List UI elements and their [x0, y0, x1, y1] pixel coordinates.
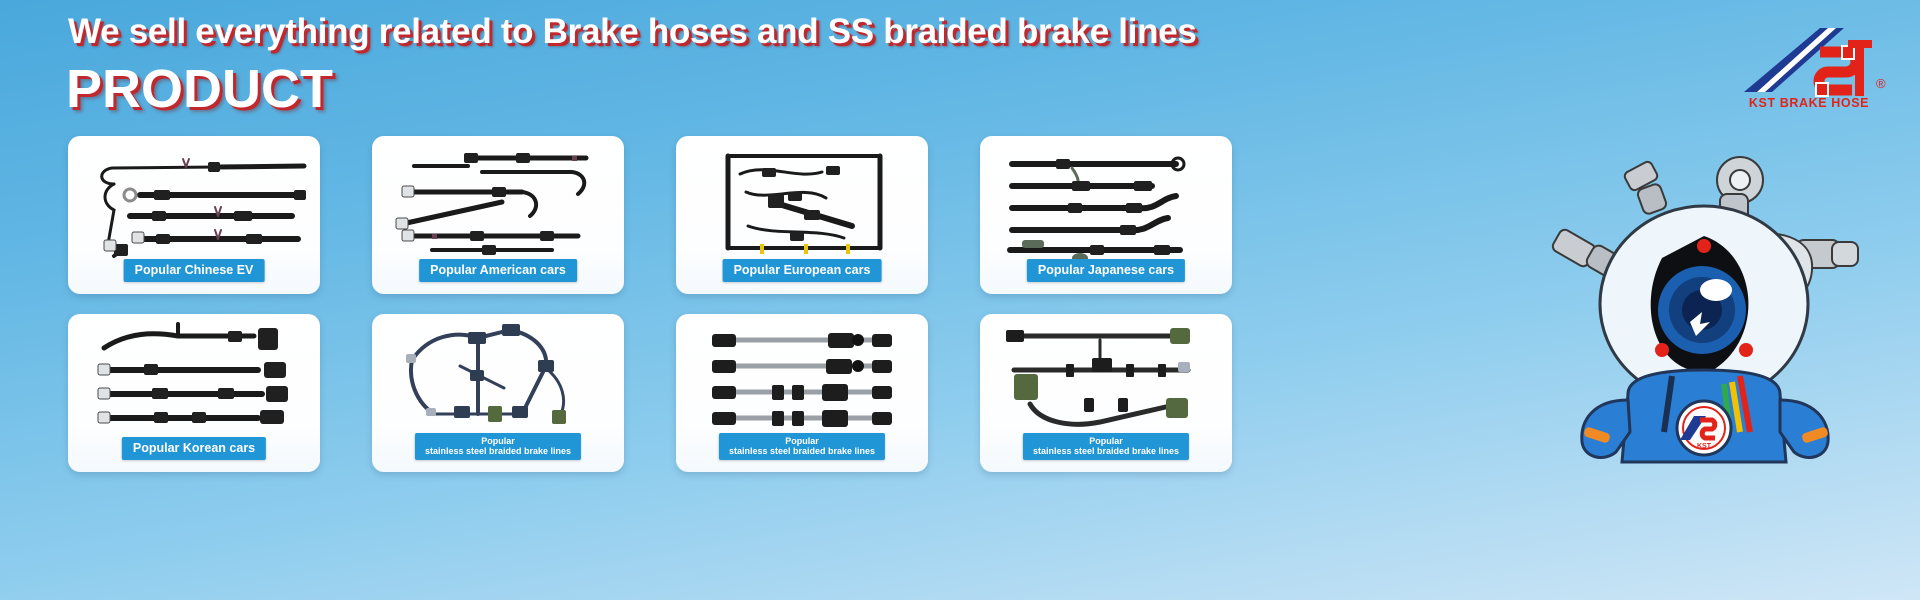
mascot-badge-text: KST — [1697, 443, 1712, 450]
card-badge: Popular European cars — [723, 259, 882, 282]
product-card-japanese-cars[interactable]: Popular Japanese cars — [980, 136, 1232, 294]
product-card-chinese-ev[interactable]: Popular Chinese EV — [68, 136, 320, 294]
product-card-american-cars[interactable]: Popular American cars — [372, 136, 624, 294]
card-badge: Popular stainless steel braided brake li… — [719, 433, 885, 460]
card-badge-line1: Popular American cars — [430, 263, 566, 277]
card-badge-line2: stainless steel braided brake lines — [729, 446, 875, 456]
brake-hose-artwork — [68, 318, 320, 444]
card-badge-line1: Popular — [729, 436, 875, 446]
card-badge: Popular American cars — [419, 259, 577, 282]
banner-stage: We sell everything related to Brake hose… — [0, 0, 1920, 600]
ss-braided-line-artwork — [980, 318, 1232, 444]
card-badge-line1: Popular — [1033, 436, 1179, 446]
page-title: PRODUCT — [66, 58, 333, 120]
card-badge: Popular stainless steel braided brake li… — [415, 433, 581, 460]
logo-wordmark: KST BRAKE HOSE — [1749, 96, 1869, 110]
card-badge-line1: Popular — [425, 436, 571, 446]
brake-hose-artwork — [68, 140, 320, 266]
ss-braided-line-artwork — [372, 318, 624, 444]
card-badge-line1: Popular Korean cars — [133, 441, 255, 455]
brake-hose-artwork — [372, 140, 624, 266]
mascot-robot-illustration: KST — [1544, 132, 1874, 477]
brake-hose-artwork — [676, 140, 928, 266]
card-badge-line1: Popular Japanese cars — [1038, 263, 1174, 277]
product-card-ss-braided-3[interactable]: Popular stainless steel braided brake li… — [980, 314, 1232, 472]
card-badge-line2: stainless steel braided brake lines — [1033, 446, 1179, 456]
card-badge-line1: Popular European cars — [734, 263, 871, 277]
brand-logo: ® KST BRAKE HOSE — [1724, 22, 1894, 110]
ss-braided-line-artwork — [676, 318, 928, 444]
card-badge-line1: Popular Chinese EV — [135, 263, 254, 277]
page-headline: We sell everything related to Brake hose… — [68, 12, 1197, 52]
product-card-european-cars[interactable]: Popular European cars — [676, 136, 928, 294]
card-badge: Popular Japanese cars — [1027, 259, 1185, 282]
product-card-korean-cars[interactable]: Popular Korean cars — [68, 314, 320, 472]
card-badge: Popular stainless steel braided brake li… — [1023, 433, 1189, 460]
product-card-ss-braided-2[interactable]: Popular stainless steel braided brake li… — [676, 314, 928, 472]
card-badge: Popular Chinese EV — [124, 259, 265, 282]
registered-mark-glyph: ® — [1876, 76, 1886, 91]
card-row-1: Popular Chinese EV — [68, 136, 1258, 294]
product-card-ss-braided-1[interactable]: Popular stainless steel braided brake li… — [372, 314, 624, 472]
card-badge: Popular Korean cars — [122, 437, 266, 460]
card-badge-line2: stainless steel braided brake lines — [425, 446, 571, 456]
brake-hose-artwork — [980, 140, 1232, 266]
card-row-2: Popular Korean cars — [68, 314, 1258, 472]
product-card-grid: Popular Chinese EV — [68, 136, 1258, 472]
